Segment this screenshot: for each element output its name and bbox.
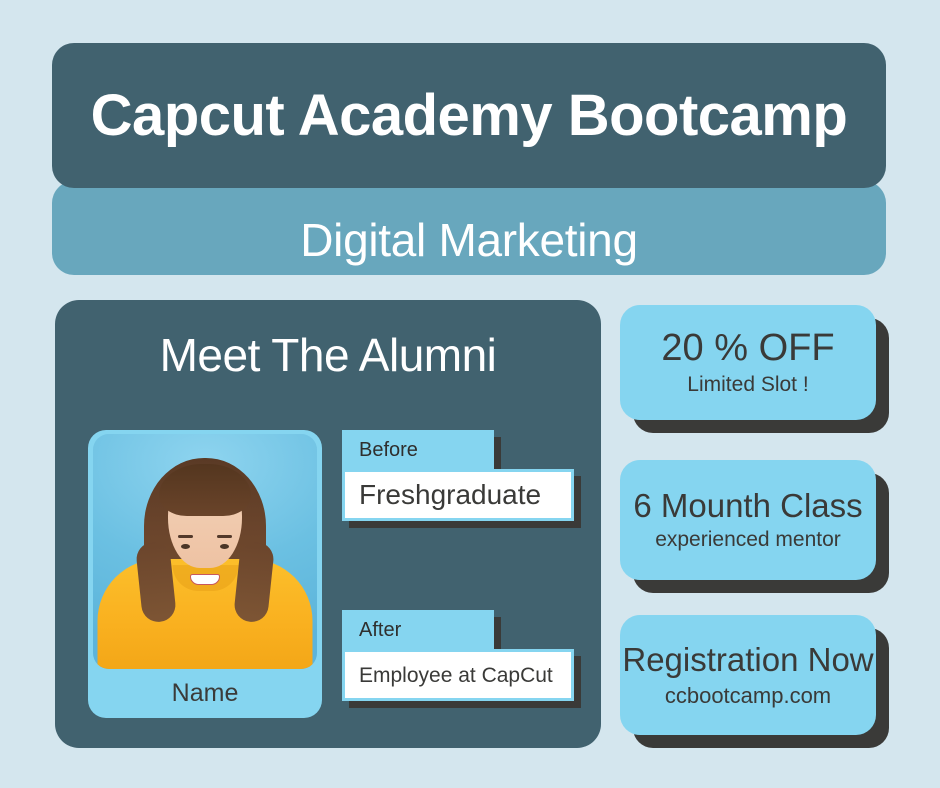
eye-left-shape <box>181 544 190 549</box>
promo-discount-card[interactable]: 20 % OFF Limited Slot ! <box>620 305 876 420</box>
eye-right-shape <box>220 544 229 549</box>
alumni-panel: Meet The Alumni <box>55 300 601 748</box>
after-tab-label: After <box>359 620 401 640</box>
title-bar: Capcut Academy Bootcamp <box>52 43 886 188</box>
after-card-value: Employee at CapCut <box>359 665 553 686</box>
alumni-heading: Meet The Alumni <box>55 330 601 381</box>
eyebrow-right-shape <box>217 535 232 538</box>
promo-discount-subtitle: Limited Slot ! <box>687 374 808 396</box>
eyebrow-left-shape <box>178 535 193 538</box>
promo-registration-url[interactable]: ccbootcamp.com <box>665 684 831 707</box>
page-title: Capcut Academy Bootcamp <box>91 87 848 145</box>
alumni-photo <box>93 434 317 669</box>
before-card: Freshgraduate <box>342 469 574 521</box>
hair-front-shape <box>159 464 251 516</box>
before-tab: Before <box>342 430 494 470</box>
after-card: Employee at CapCut <box>342 649 574 701</box>
alumni-name-label: Name <box>88 669 322 718</box>
after-tab: After <box>342 610 494 650</box>
promo-registration-card[interactable]: Registration Now ccbootcamp.com <box>620 615 876 735</box>
poster-canvas: Digital Marketing Capcut Academy Bootcam… <box>0 0 940 788</box>
smile-shape <box>190 574 220 585</box>
promo-registration-title: Registration Now <box>622 643 873 678</box>
before-tab-label: Before <box>359 440 418 460</box>
promo-duration-title: 6 Mounth Class <box>633 489 862 524</box>
after-group: After Employee at CapCut <box>342 610 574 701</box>
promo-discount-title: 20 % OFF <box>661 329 834 369</box>
subtitle-text: Digital Marketing <box>300 217 637 263</box>
subtitle-bar: Digital Marketing <box>52 181 886 275</box>
alumni-photo-card: Name <box>88 430 322 718</box>
before-card-value: Freshgraduate <box>359 481 541 509</box>
portrait-illustration <box>93 434 317 669</box>
before-group: Before Freshgraduate <box>342 430 574 521</box>
promo-duration-card[interactable]: 6 Mounth Class experienced mentor <box>620 460 876 580</box>
promo-duration-subtitle: experienced mentor <box>655 529 841 551</box>
